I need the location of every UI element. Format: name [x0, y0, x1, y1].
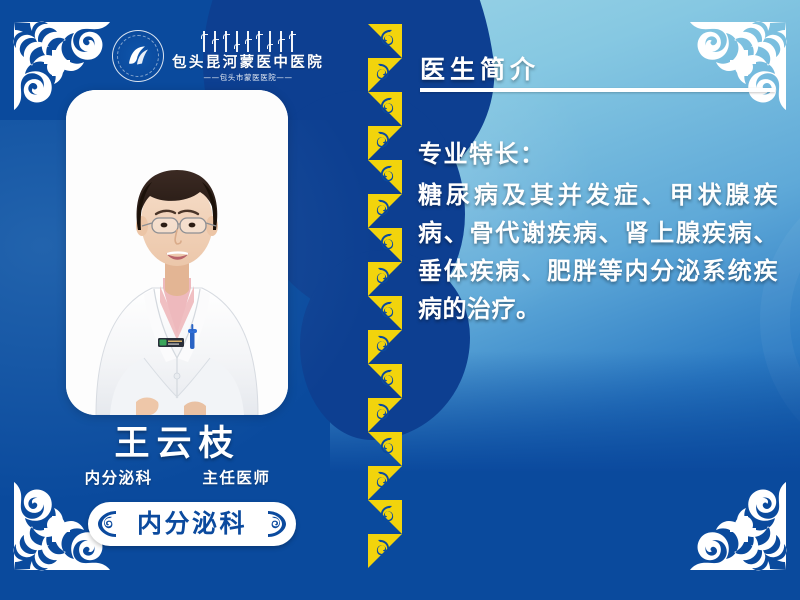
corner-scroll-ornament-icon: [684, 14, 794, 112]
hospital-logo: 包头昆河蒙医中医院 ——包头市蒙医医院——: [112, 30, 324, 82]
mongolian-pattern-divider-icon: [364, 24, 406, 576]
hospital-subname: ——包头市蒙医医院——: [204, 74, 293, 82]
hospital-name: 包头昆河蒙医中医院: [172, 56, 324, 71]
doctor-profile-card: 包头昆河蒙医中医院 ——包头市蒙医医院——: [0, 0, 800, 600]
hospital-emblem-icon: [112, 30, 164, 82]
cloud-scroll-icon: [264, 509, 290, 539]
mongolian-script-row: [201, 31, 295, 53]
hospital-logo-text: 包头昆河蒙医中医院 ——包头市蒙医医院——: [172, 31, 324, 81]
corner-scroll-ornament-icon: [684, 480, 794, 578]
doctor-name: 王云枝: [0, 415, 355, 466]
cloud-scroll-icon: [94, 509, 120, 539]
panel-heading-rule: [420, 88, 775, 92]
doctor-title: 主任医师: [202, 466, 270, 488]
panel-body: 专业特长： 糖尿病及其并发症、甲状腺疾病、骨代谢疾病、肾上腺疾病、垂体疾病、肥胖…: [418, 134, 778, 329]
specialty-label: 专业特长：: [418, 134, 778, 169]
doctor-meta: 内分泌科 主任医师: [0, 466, 355, 488]
doctor-department: 内分泌科: [85, 466, 153, 488]
department-plaque: 内分泌科: [88, 502, 296, 546]
specialty-text: 糖尿病及其并发症、甲状腺疾病、骨代谢疾病、肾上腺疾病、垂体疾病、肥胖等内分泌系统…: [418, 177, 778, 329]
plaque-department-label: 内分泌科: [120, 511, 264, 538]
doctor-photo: [66, 90, 288, 415]
panel-heading: 医生简介: [420, 50, 540, 86]
